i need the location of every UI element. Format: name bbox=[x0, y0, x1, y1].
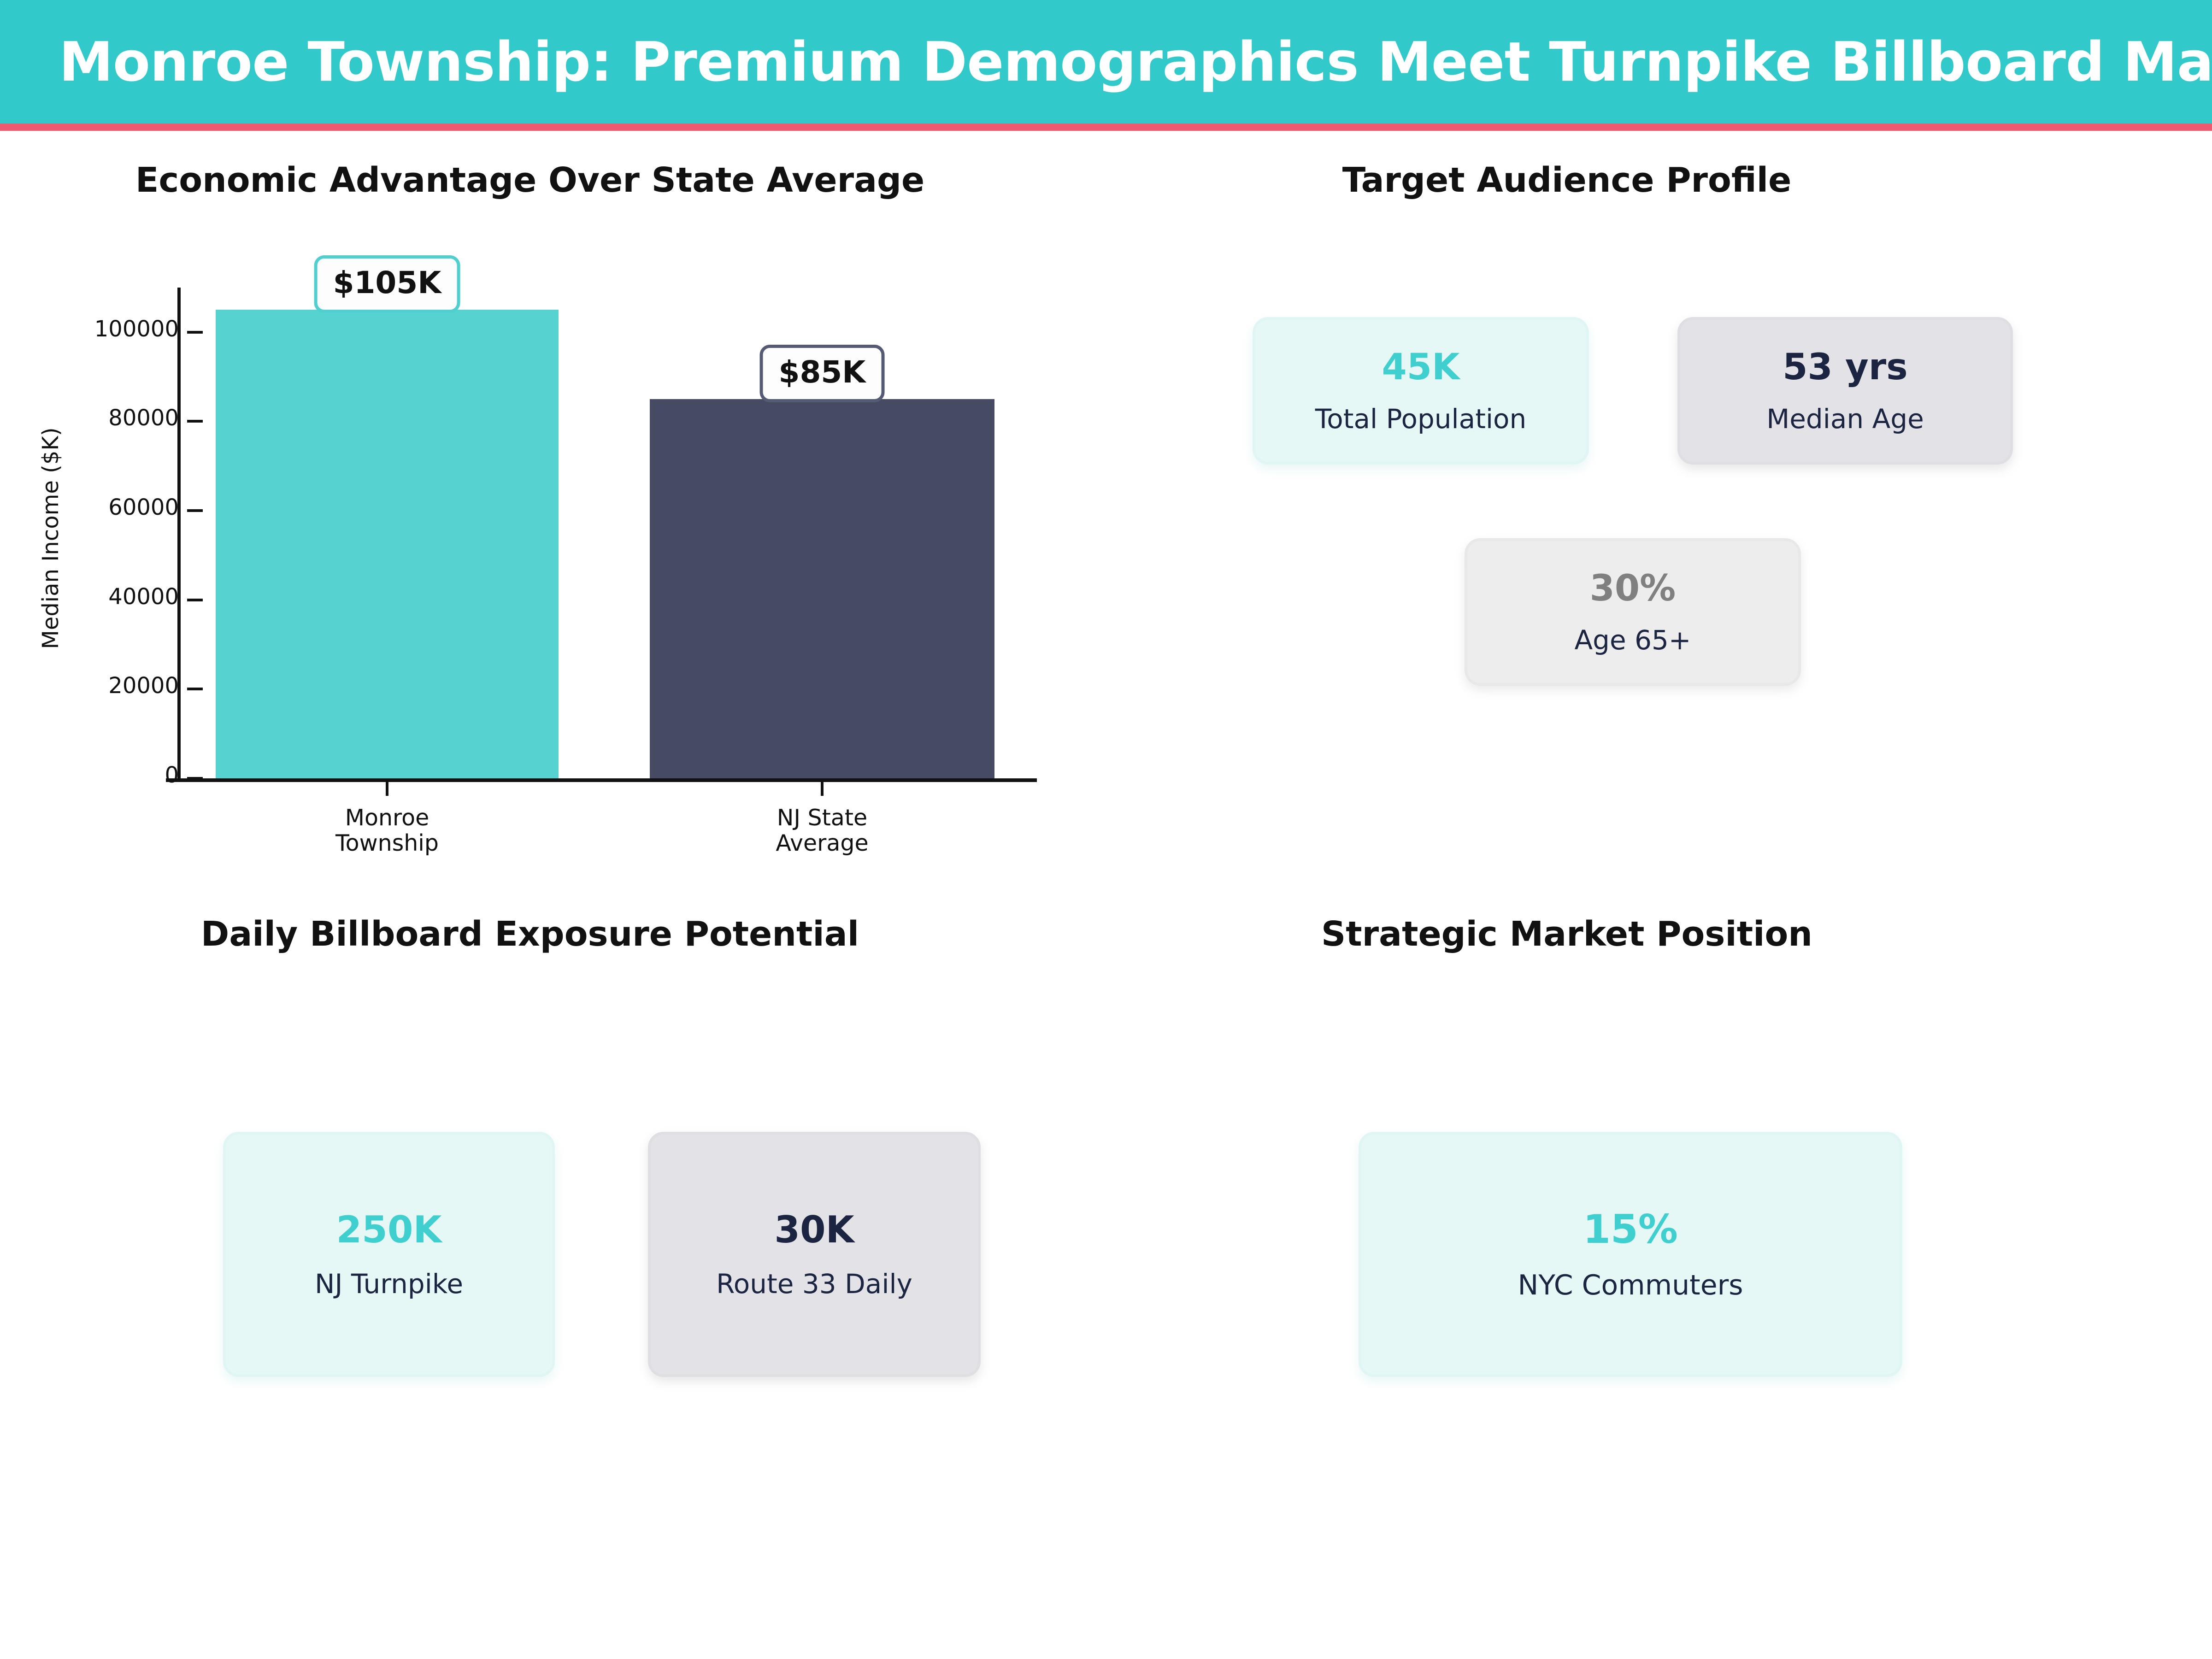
x-axis-tick-label: NJ StateAverage bbox=[684, 806, 960, 856]
stat-label: NYC Commuters bbox=[1518, 1271, 1743, 1299]
bar-chart: Median Income ($K) 020000400006000080000… bbox=[0, 230, 1060, 876]
panel-title-market: Strategic Market Position bbox=[1083, 914, 2051, 954]
stat-value: 250K bbox=[336, 1212, 442, 1248]
panel-title-audience: Target Audience Profile bbox=[1083, 160, 2051, 200]
stat-card-route-33-daily[interactable]: 30K Route 33 Daily bbox=[648, 1132, 981, 1377]
stat-label: Route 33 Daily bbox=[716, 1271, 912, 1297]
page-title: Monroe Township: Premium Demographics Me… bbox=[59, 30, 2212, 94]
stat-card-median-age[interactable]: 53 yrs Median Age bbox=[1677, 317, 2013, 465]
stat-card-total-population[interactable]: 45K Total Population bbox=[1253, 317, 1589, 465]
x-axis-tick-mark bbox=[821, 782, 824, 796]
bar-1[interactable] bbox=[650, 399, 994, 778]
x-axis-spine bbox=[166, 778, 1037, 782]
bar-value-label-1: $85K bbox=[760, 345, 885, 402]
stat-card-age-65-plus[interactable]: 30% Age 65+ bbox=[1465, 538, 1801, 686]
x-axis-tick-label: MonroeTownship bbox=[249, 806, 525, 856]
stat-label: Median Age bbox=[1766, 406, 1924, 432]
stat-card-nyc-commuters[interactable]: 15% NYC Commuters bbox=[1359, 1132, 1902, 1377]
panel-title-economic: Economic Advantage Over State Average bbox=[0, 160, 1060, 200]
stat-value: 30K bbox=[774, 1212, 854, 1248]
bars-area: $105K$85K bbox=[0, 230, 1060, 778]
x-axis-tick-mark bbox=[386, 782, 388, 796]
stat-label: NJ Turnpike bbox=[315, 1271, 463, 1297]
stat-label: Total Population bbox=[1315, 406, 1527, 432]
stat-card-nj-turnpike[interactable]: 250K NJ Turnpike bbox=[223, 1132, 555, 1377]
bar-value-label-0: $105K bbox=[314, 255, 460, 313]
stat-value: 45K bbox=[1382, 349, 1460, 385]
header-band: Monroe Township: Premium Demographics Me… bbox=[0, 0, 2212, 124]
header-accent-bar bbox=[0, 124, 2212, 131]
stat-value: 30% bbox=[1590, 571, 1676, 606]
stat-value: 53 yrs bbox=[1783, 349, 1907, 385]
stat-label: Age 65+ bbox=[1574, 627, 1691, 653]
panel-title-exposure: Daily Billboard Exposure Potential bbox=[0, 914, 1060, 954]
stat-value: 15% bbox=[1583, 1210, 1678, 1249]
bar-0[interactable] bbox=[216, 310, 559, 778]
